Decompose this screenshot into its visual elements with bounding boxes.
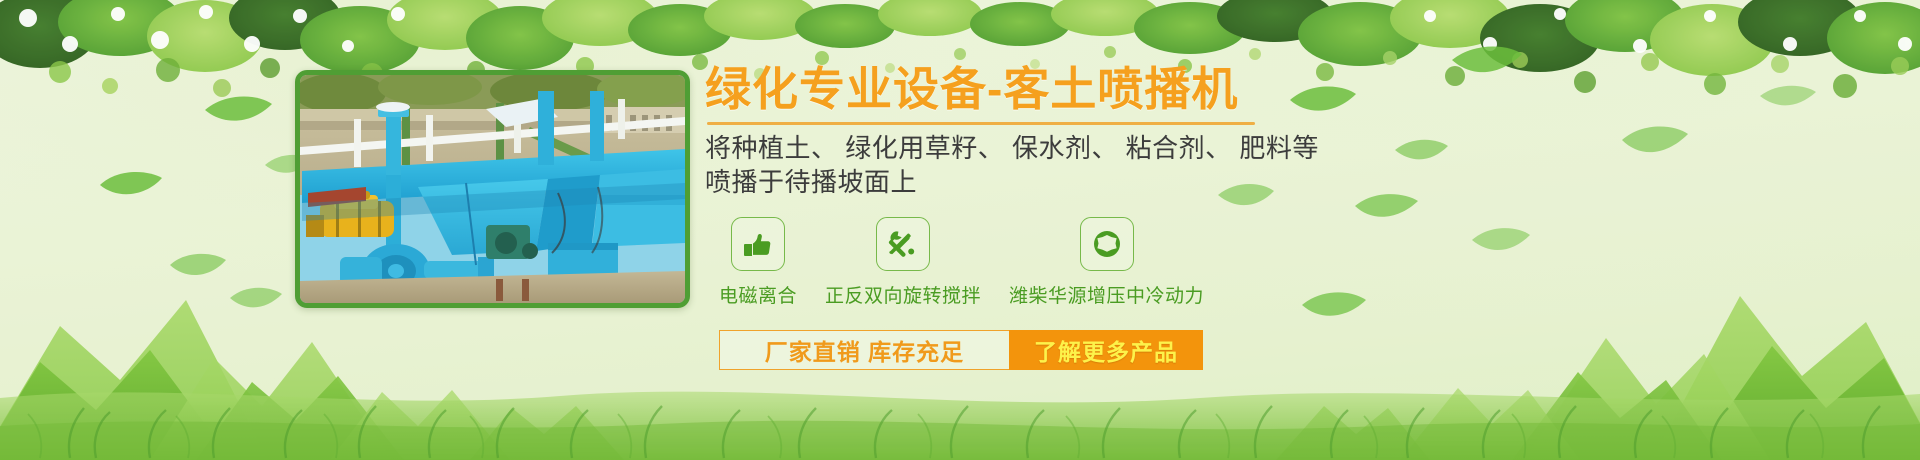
- promo-banner: 绿化专业设备-客土喷播机 将种植土、 绿化用草籽、 保水剂、 粘合剂、 肥料等 …: [0, 0, 1920, 460]
- selling-points-box: 厂家直销 库存充足: [719, 330, 1009, 370]
- page-title: 绿化专业设备-客土喷播机: [705, 62, 1855, 116]
- feature-item-weichai-power[interactable]: 潍柴华源增压中冷动力: [1009, 217, 1204, 308]
- feature-item-bidirectional-mixing[interactable]: 正反双向旋转搅拌: [825, 217, 981, 308]
- tools-icon: [876, 217, 930, 271]
- feature-list: 电磁离合 正反双向旋转搅拌: [705, 217, 1855, 308]
- feature-label: 正反双向旋转搅拌: [825, 281, 981, 308]
- banner-content: 绿化专业设备-客土喷播机 将种植土、 绿化用草籽、 保水剂、 粘合剂、 肥料等 …: [705, 62, 1855, 402]
- product-photo[interactable]: [295, 70, 690, 308]
- feature-item-electromagnetic-clutch[interactable]: 电磁离合: [719, 217, 797, 308]
- banner-subcopy: 将种植土、 绿化用草籽、 保水剂、 粘合剂、 肥料等 喷播于待播坡面上: [705, 129, 1855, 199]
- cta-row: 厂家直销 库存充足 了解更多产品: [719, 330, 1203, 370]
- learn-more-button-label: 了解更多产品: [1034, 333, 1178, 367]
- title-underline-divider: [707, 122, 1255, 125]
- learn-more-button[interactable]: 了解更多产品: [1009, 330, 1203, 370]
- engine-gear-icon: [1080, 217, 1134, 271]
- thumbs-up-icon: [731, 217, 785, 271]
- selling-points-text: 厂家直销 库存充足: [765, 333, 964, 367]
- feature-label: 潍柴华源增压中冷动力: [1009, 281, 1204, 308]
- feature-label: 电磁离合: [719, 281, 797, 308]
